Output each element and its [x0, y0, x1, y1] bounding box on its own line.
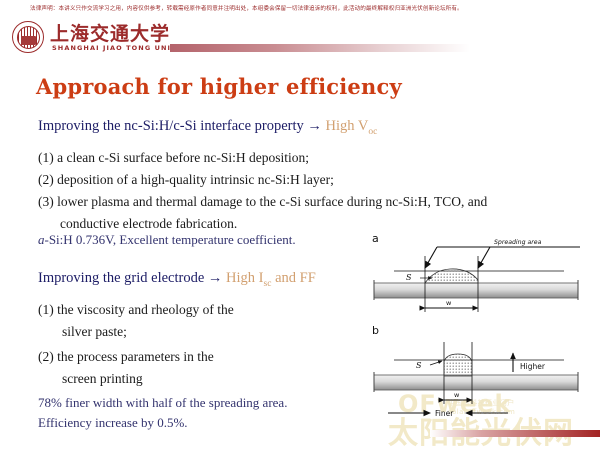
panel-b-width-label: w — [454, 391, 460, 399]
section-2-heading-highlight: High Isc and FF — [226, 270, 316, 286]
section-2-heading-text: Improving the grid electrode — [38, 270, 208, 286]
asi-h-note-text: -Si:H 0.736V, Excellent temperature coef… — [45, 232, 296, 247]
ff-label: and FF — [271, 270, 315, 286]
arrow-icon: → — [307, 118, 322, 134]
section-1-heading-highlight: High Voc — [326, 118, 378, 134]
university-name-cn: 上海交通大学 — [50, 19, 170, 46]
conclusion-line-1: 78% finer width with half of the spreadi… — [38, 395, 287, 411]
list-item: (1) a clean c-Si surface before nc-Si:H … — [38, 150, 309, 166]
conclusion-line-2: Efficiency increase by 0.5%. — [38, 415, 188, 431]
voc-subscript: oc — [368, 127, 377, 137]
section-1-heading: Improving the nc-Si:H/c-Si interface pro… — [38, 118, 377, 137]
list-item: (1) the viscosity and rheology of the — [38, 302, 234, 318]
list-item: silver paste; — [62, 324, 127, 340]
spreading-area-label: Spreading area — [494, 239, 542, 246]
section-2-heading: Improving the grid electrode → High Isc … — [38, 270, 316, 289]
list-item: (2) the process parameters in the — [38, 349, 214, 365]
panel-b-letter: b — [372, 324, 379, 337]
university-seal-icon — [12, 21, 44, 53]
list-item: (3) lower plasma and thermal damage to t… — [38, 194, 487, 210]
higher-label: Higher — [520, 362, 546, 371]
list-item: conductive electrode fabrication. — [60, 216, 237, 232]
slide-title: Approach for higher efficiency — [36, 74, 402, 99]
high-isc-label: High I — [226, 270, 263, 286]
bottom-accent-bar — [430, 430, 600, 437]
list-item: (2) deposition of a high-quality intrins… — [38, 172, 334, 188]
finer-label: Finer — [435, 409, 454, 418]
slide-header: 法律声明：本讲义只作交流学习之用，内容仅供参考，转载需经原作者同意并注明出处，本… — [0, 0, 600, 60]
panel-a: S w Spreading area a — [372, 232, 580, 312]
section-1-heading-text: Improving the nc-Si:H/c-Si interface pro… — [38, 118, 307, 134]
panel-a-width-label: w — [446, 299, 452, 307]
panel-b: S Higher w Finer b — [372, 324, 578, 418]
section-1-note: a-Si:H 0.736V, Excellent temperature coe… — [38, 232, 296, 248]
list-item: screen printing — [62, 371, 143, 387]
panel-a-s-label: S — [406, 273, 412, 282]
header-accent-bar — [170, 44, 470, 52]
panel-a-letter: a — [372, 232, 379, 245]
legal-notice-text: 法律声明：本讲义只作交流学习之用，内容仅供参考，转载需经原作者同意并注明出处，本… — [30, 5, 595, 14]
high-voc-label: High V — [326, 118, 369, 134]
grid-electrode-figure: S w Spreading area a S — [368, 228, 596, 418]
panel-b-s-label: S — [416, 361, 422, 370]
grid-electrode-diagram-svg: S w Spreading area a S — [368, 228, 596, 418]
arrow-icon: → — [208, 270, 223, 286]
